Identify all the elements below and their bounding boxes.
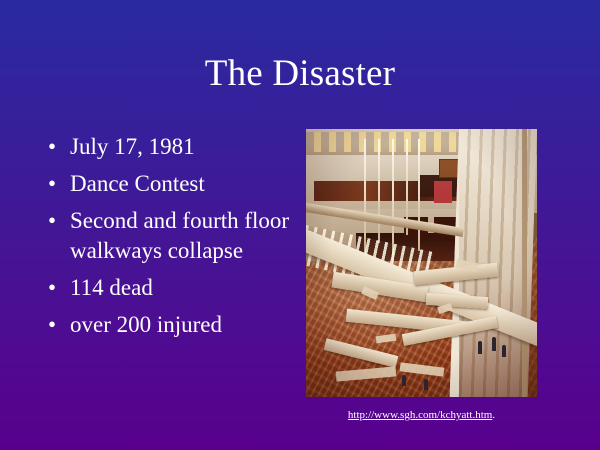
list-item-label: Second and fourth floor walkways collaps… [70, 206, 290, 266]
photo-hanger-rod [378, 139, 380, 243]
bullet-dot-icon: • [46, 169, 58, 199]
list-item: • July 17, 1981 [38, 132, 290, 162]
list-item-label: 114 dead [70, 273, 290, 303]
bullet-dot-icon: • [46, 132, 58, 162]
bullet-dot-icon: • [46, 310, 58, 340]
caption-period: . [492, 409, 495, 421]
list-item-label: Dance Contest [70, 169, 290, 199]
photo-red-window [434, 181, 452, 203]
presentation-slide: The Disaster • July 17, 1981 • Dance Con… [0, 0, 600, 450]
photo-person [478, 341, 482, 354]
photo-canvas [306, 129, 537, 397]
photo-structural-beam [522, 129, 527, 397]
list-item-label: over 200 injured [70, 310, 290, 340]
photo-person [424, 379, 428, 390]
photo-person [402, 375, 406, 386]
list-item: • Second and fourth floor walkways colla… [38, 206, 290, 266]
disaster-photograph [306, 129, 537, 397]
photo-person [502, 345, 506, 357]
photo-person [492, 337, 496, 351]
list-item: • over 200 injured [38, 310, 290, 340]
list-item: • Dance Contest [38, 169, 290, 199]
bullet-dot-icon: • [46, 273, 58, 303]
bullet-dot-icon: • [46, 206, 58, 236]
list-item: • 114 dead [38, 273, 290, 303]
bullet-list: • July 17, 1981 • Dance Contest • Second… [38, 132, 290, 347]
page-title: The Disaster [0, 52, 600, 96]
source-caption: http://www.sgh.com/kchyatt.htm. [306, 408, 537, 422]
source-url-link[interactable]: http://www.sgh.com/kchyatt.htm [348, 409, 492, 421]
list-item-label: July 17, 1981 [70, 132, 290, 162]
photo-hanger-rod [418, 139, 420, 251]
